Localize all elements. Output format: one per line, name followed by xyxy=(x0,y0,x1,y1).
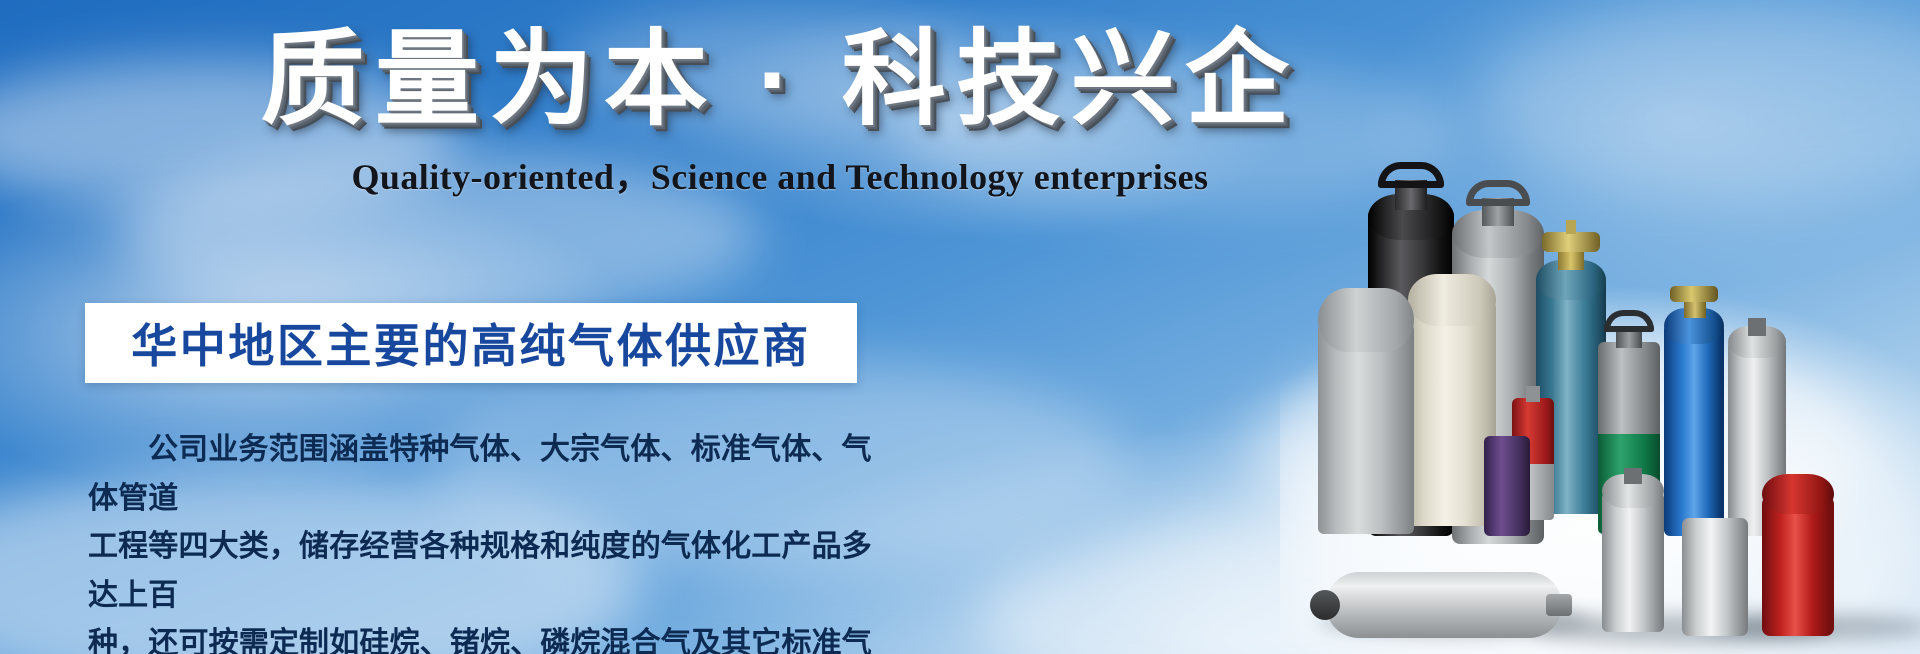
description-line: 种，还可按需定制如硅烷、锗烷、磷烷混合气及其它标准气体。 xyxy=(88,620,878,654)
product-purple-small-cylinder xyxy=(1484,418,1530,536)
page-subtitle: Quality-oriented，Science and Technology … xyxy=(0,148,1560,200)
description-line: 公司业务范围涵盖特种气体、大宗气体、标准气体、气体管道 xyxy=(88,426,878,523)
product-red-cylinder xyxy=(1762,466,1834,636)
description-paragraph: 公司业务范围涵盖特种气体、大宗气体、标准气体、气体管道 工程等四大类，储存经营各… xyxy=(88,426,878,654)
product-silver-aluminum-cylinder xyxy=(1602,464,1664,632)
product-horizontal-grey-tank xyxy=(1308,566,1576,642)
product-light-grey-cylinder xyxy=(1318,284,1414,534)
claim-text: 华中地区主要的高纯气体供应商 xyxy=(131,310,810,376)
product-cream-cylinder xyxy=(1408,264,1496,526)
product-silver-aluminum-cylinder xyxy=(1682,494,1748,636)
claim-highlight-box: 华中地区主要的高纯气体供应商 xyxy=(85,303,857,383)
promotional-banner: 质量为本 · 科技兴企 Quality-oriented，Science and… xyxy=(0,0,1920,654)
description-line: 工程等四大类，储存经营各种规格和纯度的气体化工产品多达上百 xyxy=(88,523,878,620)
page-title: 质量为本 · 科技兴企 xyxy=(0,22,1560,138)
